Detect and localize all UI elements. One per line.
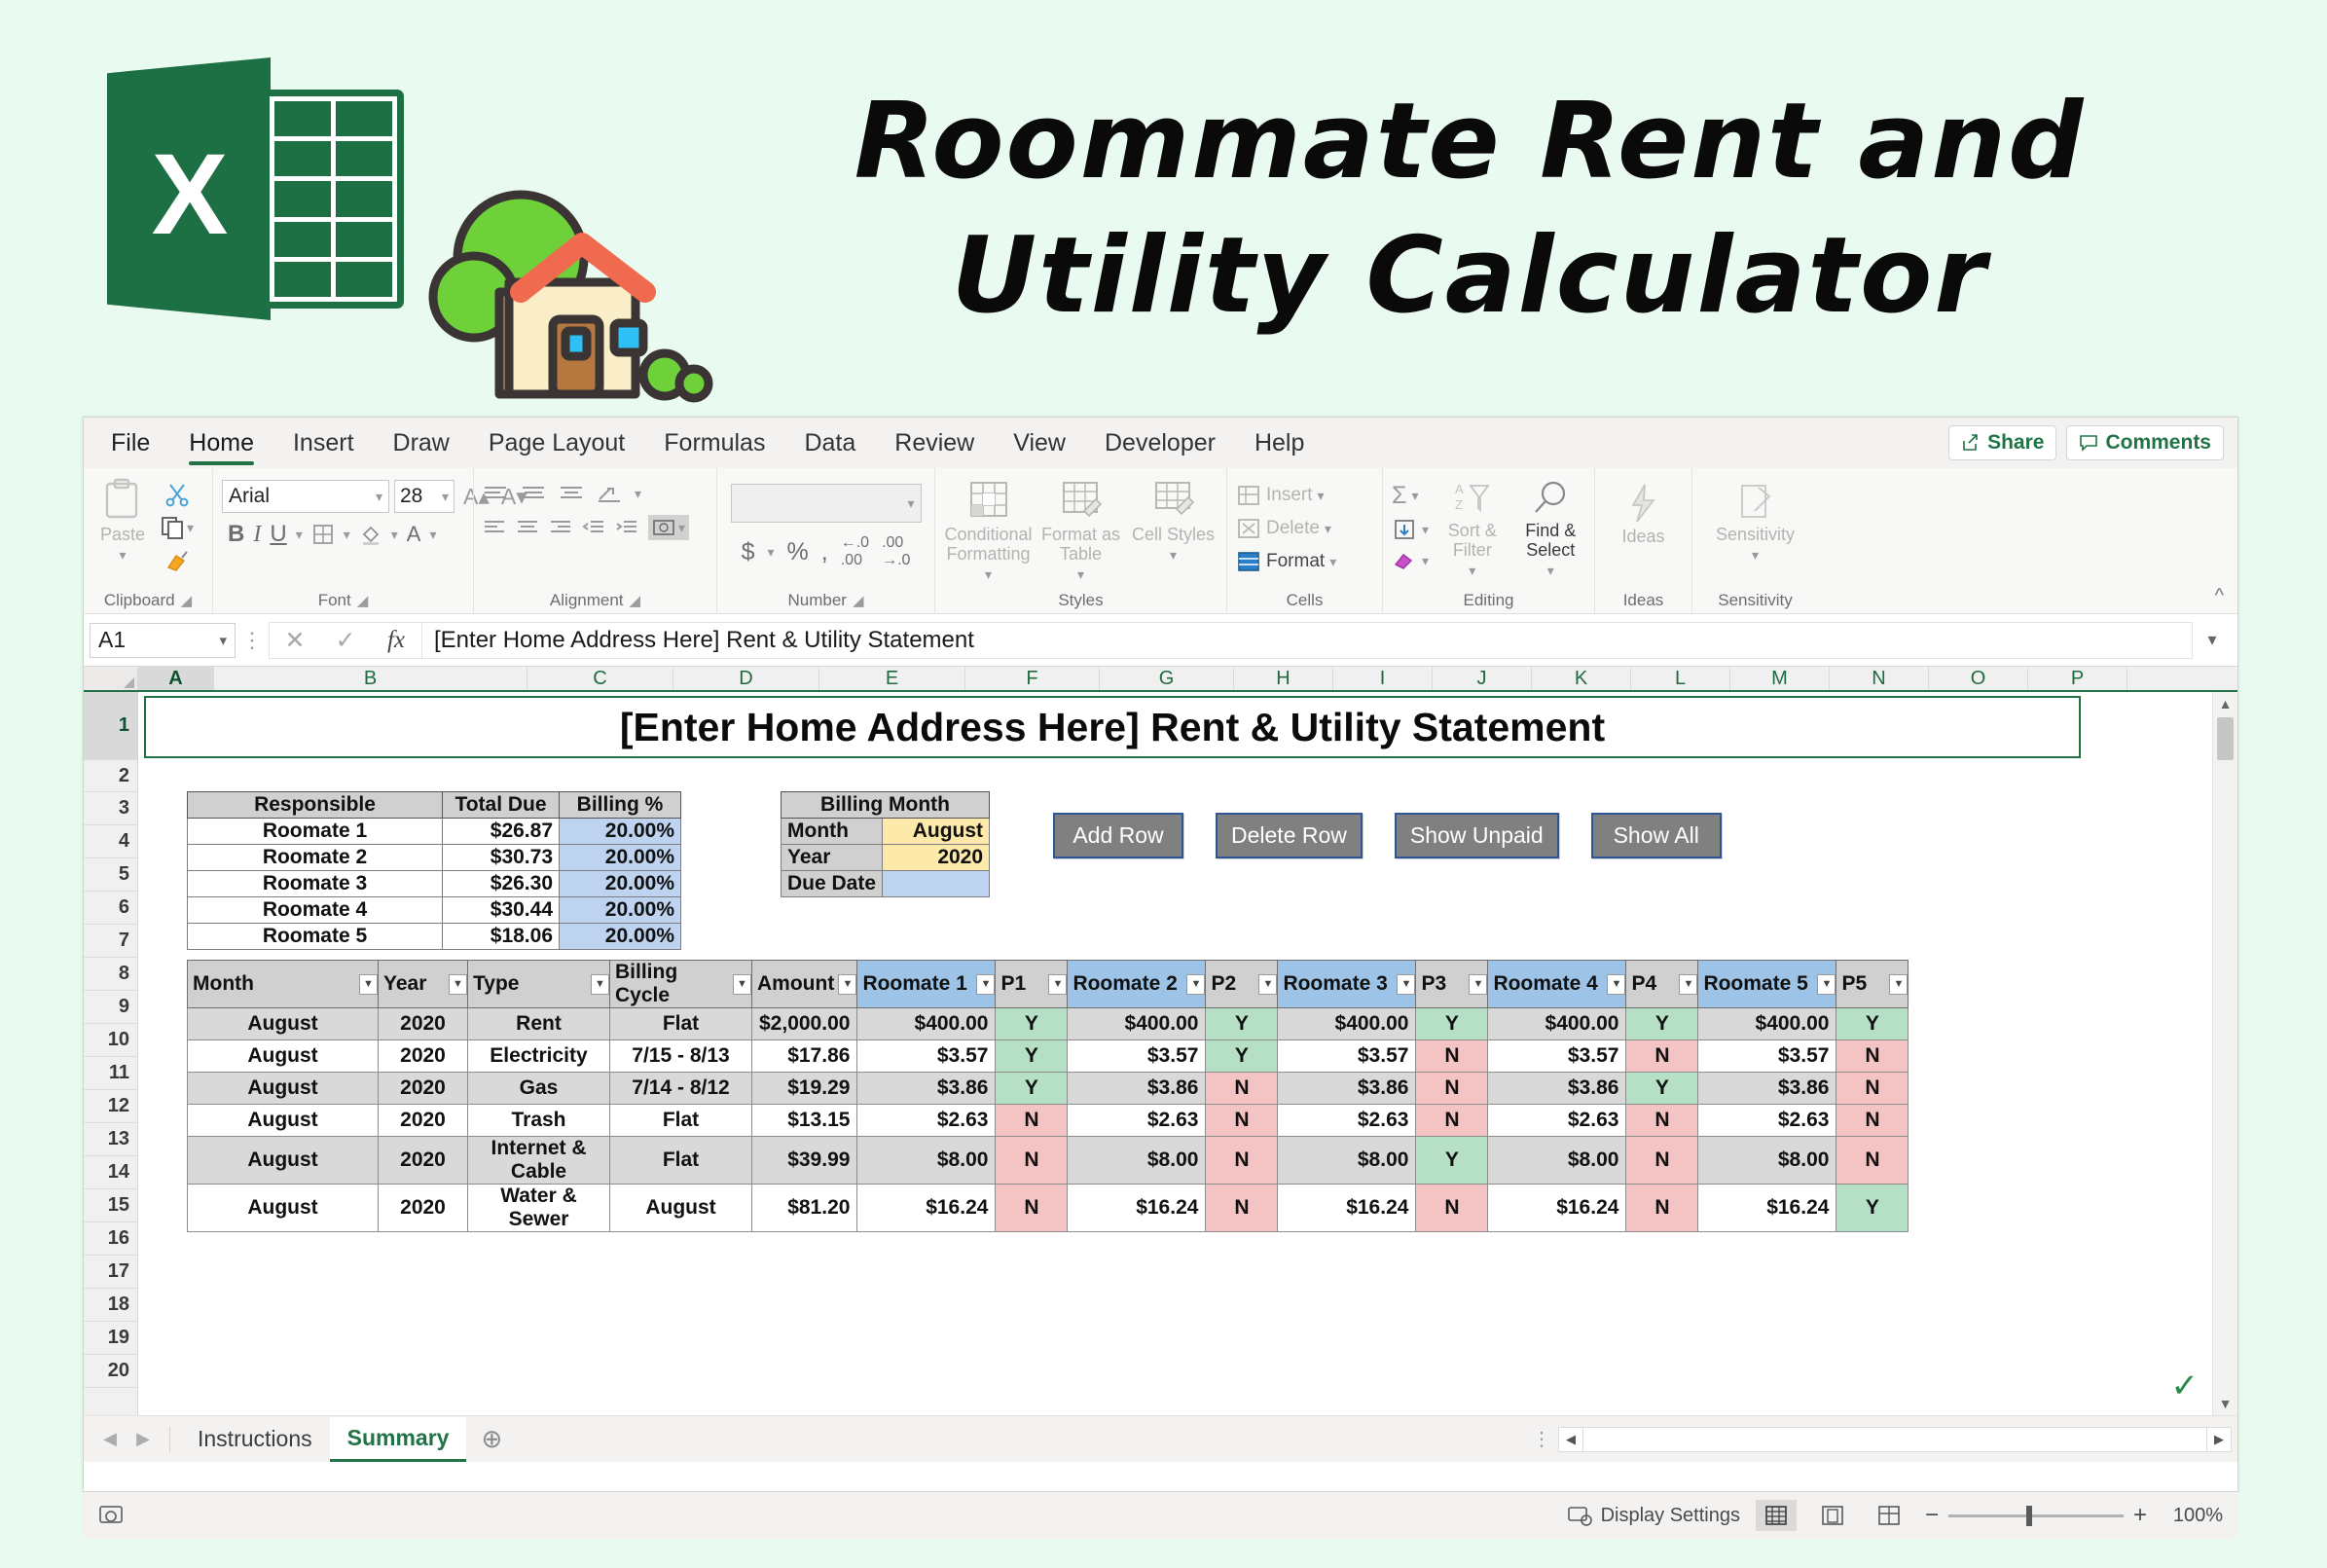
cell-year[interactable]: 2020	[379, 1008, 468, 1040]
cell-amount[interactable]: $81.20	[752, 1185, 857, 1232]
font-dialog-launcher-icon[interactable]: ◢	[357, 592, 369, 609]
table-row[interactable]: August 2020 Water & Sewer August $81.20 …	[188, 1185, 1909, 1232]
ledger-col-roomate-2[interactable]: Roomate 2▼	[1068, 961, 1206, 1008]
sort-and-filter-button[interactable]: A Z Sort & Filter ▾	[1438, 480, 1507, 578]
cell-roomate-1[interactable]: $2.63	[857, 1105, 996, 1137]
clear-chevron-down-icon[interactable]: ▾	[1422, 553, 1429, 569]
cell-p3[interactable]: N	[1416, 1185, 1488, 1232]
cell-p1[interactable]: Y	[996, 1073, 1068, 1105]
number-format-select[interactable]: ▾	[731, 484, 922, 523]
conditional-formatting-chevron-down-icon[interactable]: ▾	[985, 567, 992, 582]
decrease-indent-icon[interactable]	[582, 519, 605, 536]
column-header-I[interactable]: I	[1333, 667, 1433, 690]
cell-p2[interactable]: Y	[1206, 1008, 1278, 1040]
column-header-C[interactable]: C	[527, 667, 673, 690]
cell-roomate-2[interactable]: $3.86	[1068, 1073, 1206, 1105]
due-date-value[interactable]	[883, 871, 990, 897]
cell-p3[interactable]: N	[1416, 1105, 1488, 1137]
select-all-corner-button[interactable]	[84, 667, 138, 690]
format-chevron-down-icon[interactable]: ▾	[1329, 554, 1336, 570]
responsible-pct[interactable]: 20.00%	[560, 871, 681, 897]
responsible-name[interactable]: Roomate 3	[188, 871, 443, 897]
responsible-name[interactable]: Roomate 5	[188, 924, 443, 950]
responsible-due[interactable]: $30.44	[443, 897, 560, 924]
filter-p4-icon[interactable]: ▼	[1679, 974, 1697, 995]
scroll-down-arrow-icon[interactable]: ▼	[2213, 1392, 2237, 1415]
cell-type[interactable]: Gas	[468, 1073, 610, 1105]
vertical-scroll-thumb[interactable]	[2217, 717, 2234, 760]
filter-amount-icon[interactable]: ▼	[838, 974, 856, 995]
ribbon-tab-file[interactable]: File	[91, 418, 169, 468]
insert-cells-button[interactable]: Insert ▾	[1236, 482, 1325, 509]
comments-button[interactable]: Comments	[2066, 425, 2224, 460]
ribbon-tab-draw[interactable]: Draw	[374, 418, 469, 468]
row-header-9[interactable]: 9	[84, 991, 137, 1024]
filter-roomate-3-icon[interactable]: ▼	[1397, 974, 1415, 995]
filter-roomate-1-icon[interactable]: ▼	[976, 974, 995, 995]
column-header-O[interactable]: O	[1929, 667, 2028, 690]
cell-p3[interactable]: Y	[1416, 1137, 1488, 1185]
page-layout-view-button[interactable]	[1812, 1500, 1853, 1531]
cell-roomate-3[interactable]: $400.00	[1278, 1008, 1416, 1040]
table-row[interactable]: Due Date	[782, 871, 990, 897]
ribbon-tab-insert[interactable]: Insert	[273, 418, 374, 468]
table-row[interactable]: August 2020 Trash Flat $13.15 $2.63 N $2…	[188, 1105, 1909, 1137]
merge-and-center-button[interactable]: ▾	[648, 515, 689, 540]
font-size-chevron-down-icon[interactable]: ▾	[442, 489, 449, 505]
format-as-table-chevron-down-icon[interactable]: ▾	[1077, 567, 1084, 582]
ribbon-tab-view[interactable]: View	[994, 418, 1085, 468]
cell-roomate-5[interactable]: $2.63	[1698, 1105, 1836, 1137]
find-select-chevron-down-icon[interactable]: ▾	[1547, 564, 1554, 578]
fill-color-chevron-down-icon[interactable]: ▾	[391, 527, 398, 543]
cell-p5[interactable]: Y	[1836, 1008, 1909, 1040]
scroll-up-arrow-icon[interactable]: ▲	[2213, 692, 2237, 715]
cell-cycle[interactable]: 7/14 - 8/12	[610, 1073, 752, 1105]
zoom-slider[interactable]: − +	[1925, 1502, 2147, 1529]
cell-p5[interactable]: N	[1836, 1105, 1909, 1137]
format-cells-button[interactable]: Format ▾	[1236, 548, 1336, 575]
filter-roomate-5-icon[interactable]: ▼	[1817, 974, 1836, 995]
row-header-7[interactable]: 7	[84, 925, 137, 958]
align-center-icon[interactable]	[516, 519, 539, 536]
conditional-formatting-button[interactable]: Conditional Formatting ▾	[946, 480, 1032, 582]
formula-bar-handle[interactable]: ⋮	[236, 628, 269, 653]
cell-p4[interactable]: N	[1626, 1040, 1698, 1073]
scroll-handle-dots-icon[interactable]: ⋮	[1525, 1427, 1558, 1451]
cell-roomate-4[interactable]: $3.86	[1488, 1073, 1626, 1105]
normal-view-button[interactable]	[1756, 1500, 1797, 1531]
font-color-icon[interactable]: A	[407, 522, 421, 547]
table-row[interactable]: Year 2020	[782, 845, 990, 871]
cell-amount[interactable]: $19.29	[752, 1073, 857, 1105]
ribbon-tab-page-layout[interactable]: Page Layout	[469, 418, 644, 468]
zoom-thumb[interactable]	[2026, 1506, 2032, 1526]
cell-month[interactable]: August	[188, 1105, 379, 1137]
display-settings-button[interactable]: Display Settings	[1568, 1505, 1740, 1527]
filter-cycle-icon[interactable]: ▼	[733, 974, 751, 995]
cell-roomate-3[interactable]: $3.86	[1278, 1073, 1416, 1105]
cell-p4[interactable]: N	[1626, 1137, 1698, 1185]
cell-amount[interactable]: $39.99	[752, 1137, 857, 1185]
column-header-F[interactable]: F	[965, 667, 1100, 690]
format-as-table-button[interactable]: Format as Table ▾	[1038, 480, 1124, 582]
cell-amount[interactable]: $13.15	[752, 1105, 857, 1137]
cell-p5[interactable]: Y	[1836, 1185, 1909, 1232]
filter-roomate-2-icon[interactable]: ▼	[1186, 974, 1205, 995]
cell-roomate-2[interactable]: $3.57	[1068, 1040, 1206, 1073]
sort-filter-chevron-down-icon[interactable]: ▾	[1469, 564, 1475, 578]
cut-button[interactable]	[157, 480, 197, 509]
column-header-D[interactable]: D	[673, 667, 819, 690]
cell-type[interactable]: Internet & Cable	[468, 1137, 610, 1185]
ledger-col-year[interactable]: Year▼	[379, 961, 468, 1008]
responsible-name[interactable]: Roomate 4	[188, 897, 443, 924]
row-header-5[interactable]: 5	[84, 858, 137, 892]
number-format-chevron-down-icon[interactable]: ▾	[907, 495, 914, 512]
cell-roomate-1[interactable]: $3.57	[857, 1040, 996, 1073]
cell-p3[interactable]: N	[1416, 1040, 1488, 1073]
cell-p2[interactable]: N	[1206, 1137, 1278, 1185]
row-header-13[interactable]: 13	[84, 1123, 137, 1156]
scroll-left-arrow-icon[interactable]: ◀	[1558, 1427, 1583, 1452]
row-header-10[interactable]: 10	[84, 1024, 137, 1057]
column-header-J[interactable]: J	[1433, 667, 1532, 690]
cell-type[interactable]: Rent	[468, 1008, 610, 1040]
zoom-track[interactable]	[1948, 1514, 2124, 1517]
table-row[interactable]: Roomate 5 $18.06 20.00%	[188, 924, 681, 950]
increase-decimal-button[interactable]: ←.0.00	[841, 534, 869, 569]
zoom-out-button[interactable]: −	[1925, 1502, 1939, 1529]
ledger-col-roomate-4[interactable]: Roomate 4▼	[1488, 961, 1626, 1008]
paste-chevron-down-icon[interactable]: ▾	[119, 548, 126, 563]
column-header-G[interactable]: G	[1100, 667, 1234, 690]
cell-roomate-1[interactable]: $400.00	[857, 1008, 996, 1040]
responsible-pct[interactable]: 20.00%	[560, 897, 681, 924]
row-header-19[interactable]: 19	[84, 1322, 137, 1355]
increase-indent-icon[interactable]	[615, 519, 638, 536]
cell-year[interactable]: 2020	[379, 1137, 468, 1185]
cell-roomate-2[interactable]: $2.63	[1068, 1105, 1206, 1137]
cell-roomate-1[interactable]: $8.00	[857, 1137, 996, 1185]
cell-p2[interactable]: N	[1206, 1073, 1278, 1105]
filter-year-icon[interactable]: ▼	[449, 974, 467, 995]
sheet-canvas[interactable]: [Enter Home Address Here] Rent & Utility…	[138, 692, 2237, 1415]
responsible-due[interactable]: $30.73	[443, 845, 560, 871]
share-button[interactable]: Share	[1948, 425, 2056, 460]
ledger-col-p1[interactable]: P1▼	[996, 961, 1068, 1008]
fill-chevron-down-icon[interactable]: ▾	[1422, 522, 1429, 538]
table-row[interactable]: Month August	[782, 819, 990, 845]
clipboard-dialog-launcher-icon[interactable]: ◢	[181, 592, 193, 609]
ledger-col-cycle[interactable]: Billing Cycle▼	[610, 961, 752, 1008]
decrease-decimal-button[interactable]: .00→.0	[882, 534, 910, 569]
cell-roomate-4[interactable]: $3.57	[1488, 1040, 1626, 1073]
align-top-icon[interactable]	[483, 485, 508, 502]
delete-row-button[interactable]: Delete Row	[1216, 813, 1363, 858]
cell-year[interactable]: 2020	[379, 1105, 468, 1137]
filter-month-icon[interactable]: ▼	[359, 974, 378, 995]
cell-amount[interactable]: $17.86	[752, 1040, 857, 1073]
cell-roomate-4[interactable]: $16.24	[1488, 1185, 1626, 1232]
cell-p2[interactable]: Y	[1206, 1040, 1278, 1073]
table-row[interactable]: August 2020 Gas 7/14 - 8/12 $19.29 $3.86…	[188, 1073, 1909, 1105]
align-right-icon[interactable]	[549, 519, 572, 536]
cell-roomate-3[interactable]: $16.24	[1278, 1185, 1416, 1232]
align-left-icon[interactable]	[483, 519, 506, 536]
cell-roomate-5[interactable]: $8.00	[1698, 1137, 1836, 1185]
align-bottom-icon[interactable]	[559, 485, 584, 502]
cell-p4[interactable]: Y	[1626, 1073, 1698, 1105]
cell-month[interactable]: August	[188, 1073, 379, 1105]
filter-p3-icon[interactable]: ▼	[1469, 974, 1487, 995]
row-header-3[interactable]: 3	[84, 792, 137, 825]
cell-month[interactable]: August	[188, 1008, 379, 1040]
autosum-chevron-down-icon[interactable]: ▾	[1411, 488, 1418, 504]
ledger-col-roomate-1[interactable]: Roomate 1▼	[857, 961, 996, 1008]
row-header-4[interactable]: 4	[84, 825, 137, 858]
cell-styles-button[interactable]: Cell Styles ▾	[1131, 480, 1217, 563]
responsible-pct[interactable]: 20.00%	[560, 845, 681, 871]
filter-p1-icon[interactable]: ▼	[1048, 974, 1067, 995]
ribbon-tab-data[interactable]: Data	[784, 418, 875, 468]
column-header-L[interactable]: L	[1631, 667, 1730, 690]
cell-month[interactable]: August	[188, 1040, 379, 1073]
cell-roomate-5[interactable]: $400.00	[1698, 1008, 1836, 1040]
find-and-select-button[interactable]: Find & Select ▾	[1516, 480, 1585, 578]
row-header-14[interactable]: 14	[84, 1156, 137, 1189]
cell-roomate-2[interactable]: $400.00	[1068, 1008, 1206, 1040]
cell-cycle[interactable]: Flat	[610, 1105, 752, 1137]
column-header-K[interactable]: K	[1532, 667, 1631, 690]
cell-roomate-1[interactable]: $16.24	[857, 1185, 996, 1232]
cell-cycle[interactable]: Flat	[610, 1137, 752, 1185]
show-all-button[interactable]: Show All	[1591, 813, 1722, 858]
orientation-chevron-down-icon[interactable]: ▾	[635, 486, 641, 502]
table-row[interactable]: Roomate 1 $26.87 20.00%	[188, 819, 681, 845]
column-header-A[interactable]: A	[138, 667, 214, 690]
italic-button[interactable]: I	[253, 522, 261, 548]
ribbon-tab-developer[interactable]: Developer	[1085, 418, 1235, 468]
font-name-select[interactable]: Arial ▾	[222, 480, 389, 513]
ledger-col-amount[interactable]: Amount▼	[752, 961, 857, 1008]
table-row[interactable]: Roomate 4 $30.44 20.00%	[188, 897, 681, 924]
scroll-right-arrow-icon[interactable]: ▶	[2206, 1427, 2232, 1452]
cell-type[interactable]: Water & Sewer	[468, 1185, 610, 1232]
row-header-11[interactable]: 11	[84, 1057, 137, 1090]
row-header-18[interactable]: 18	[84, 1289, 137, 1322]
column-header-M[interactable]: M	[1730, 667, 1830, 690]
percent-format-button[interactable]: %	[787, 538, 809, 566]
row-header-2[interactable]: 2	[84, 760, 137, 792]
cell-year[interactable]: 2020	[379, 1073, 468, 1105]
cell-p1[interactable]: N	[996, 1105, 1068, 1137]
merge-chevron-down-icon[interactable]: ▾	[678, 520, 685, 536]
page-break-preview-button[interactable]	[1869, 1500, 1909, 1531]
ribbon-tab-home[interactable]: Home	[169, 418, 273, 468]
column-header-H[interactable]: H	[1234, 667, 1333, 690]
ledger-col-p4[interactable]: P4▼	[1626, 961, 1698, 1008]
cancel-formula-button[interactable]: ✕	[270, 626, 320, 655]
fill-button[interactable]: ▾	[1392, 516, 1429, 543]
cell-p1[interactable]: Y	[996, 1040, 1068, 1073]
filter-roomate-4-icon[interactable]: ▼	[1607, 974, 1625, 995]
ledger-col-roomate-5[interactable]: Roomate 5▼	[1698, 961, 1836, 1008]
cell-p1[interactable]: Y	[996, 1008, 1068, 1040]
row-header-15[interactable]: 15	[84, 1189, 137, 1222]
alignment-dialog-launcher-icon[interactable]: ◢	[630, 592, 641, 609]
responsible-pct[interactable]: 20.00%	[560, 924, 681, 950]
row-header-8[interactable]: 8	[84, 958, 137, 991]
row-header-12[interactable]: 12	[84, 1090, 137, 1123]
ledger-col-p3[interactable]: P3▼	[1416, 961, 1488, 1008]
borders-chevron-down-icon[interactable]: ▾	[344, 527, 350, 543]
table-row[interactable]: August 2020 Electricity 7/15 - 8/13 $17.…	[188, 1040, 1909, 1073]
sensitivity-button[interactable]: Sensitivity ▾	[1713, 482, 1799, 563]
ribbon-tab-review[interactable]: Review	[875, 418, 994, 468]
clear-button[interactable]: ▾	[1392, 547, 1429, 574]
cell-styles-chevron-down-icon[interactable]: ▾	[1170, 548, 1177, 563]
zoom-in-button[interactable]: +	[2133, 1502, 2147, 1529]
previous-sheet-arrow-icon[interactable]: ◀	[93, 1429, 127, 1449]
row-header-17[interactable]: 17	[84, 1256, 137, 1289]
cell-p4[interactable]: N	[1626, 1185, 1698, 1232]
ledger-col-month[interactable]: Month▼	[188, 961, 379, 1008]
responsible-due[interactable]: $26.30	[443, 871, 560, 897]
ledger-col-roomate-3[interactable]: Roomate 3▼	[1278, 961, 1416, 1008]
horizontal-scroll-track[interactable]	[1583, 1427, 2206, 1452]
cell-p3[interactable]: Y	[1416, 1008, 1488, 1040]
name-box[interactable]: A1 ▾	[90, 623, 236, 658]
cell-roomate-1[interactable]: $3.86	[857, 1073, 996, 1105]
cell-cycle[interactable]: August	[610, 1185, 752, 1232]
responsible-pct[interactable]: 20.00%	[560, 819, 681, 845]
cell-month[interactable]: August	[188, 1185, 379, 1232]
underline-button[interactable]: U	[270, 521, 286, 548]
cell-type[interactable]: Trash	[468, 1105, 610, 1137]
currency-format-button[interactable]: $	[742, 538, 755, 566]
add-sheet-button[interactable]: ⊕	[466, 1424, 517, 1454]
ledger-col-p2[interactable]: P2▼	[1206, 961, 1278, 1008]
cell-p5[interactable]: N	[1836, 1040, 1909, 1073]
row-header-1[interactable]: 1	[84, 692, 137, 760]
filter-type-icon[interactable]: ▼	[591, 974, 609, 995]
table-row[interactable]: August 2020 Internet & Cable Flat $39.99…	[188, 1137, 1909, 1185]
copy-button[interactable]: ▾	[157, 513, 197, 542]
sensitivity-chevron-down-icon[interactable]: ▾	[1752, 548, 1759, 563]
currency-chevron-down-icon[interactable]: ▾	[768, 544, 775, 561]
billing-month-value[interactable]: August	[883, 819, 990, 845]
orientation-icon[interactable]	[597, 484, 622, 503]
table-row[interactable]: Roomate 2 $30.73 20.00%	[188, 845, 681, 871]
add-row-button[interactable]: Add Row	[1053, 813, 1183, 858]
format-painter-button[interactable]	[157, 546, 197, 575]
cell-amount[interactable]: $2,000.00	[752, 1008, 857, 1040]
copy-chevron-down-icon[interactable]: ▾	[187, 520, 194, 536]
delete-cells-button[interactable]: Delete ▾	[1236, 515, 1331, 542]
borders-icon[interactable]	[311, 523, 335, 546]
column-header-E[interactable]: E	[819, 667, 965, 690]
font-size-select[interactable]: 28 ▾	[394, 480, 454, 513]
ribbon-tab-help[interactable]: Help	[1235, 418, 1324, 468]
delete-chevron-down-icon[interactable]: ▾	[1325, 521, 1331, 537]
cell-p3[interactable]: N	[1416, 1073, 1488, 1105]
responsible-name[interactable]: Roomate 2	[188, 845, 443, 871]
responsible-due[interactable]: $18.06	[443, 924, 560, 950]
cell-roomate-4[interactable]: $2.63	[1488, 1105, 1626, 1137]
row-header-16[interactable]: 16	[84, 1222, 137, 1256]
fill-color-icon[interactable]	[359, 523, 382, 546]
responsible-name[interactable]: Roomate 1	[188, 819, 443, 845]
cell-roomate-3[interactable]: $8.00	[1278, 1137, 1416, 1185]
cell-p2[interactable]: N	[1206, 1105, 1278, 1137]
cell-roomate-3[interactable]: $3.57	[1278, 1040, 1416, 1073]
ledger-col-p5[interactable]: P5▼	[1836, 961, 1909, 1008]
expand-formula-bar-button[interactable]: ▾	[2193, 630, 2232, 650]
cell-roomate-4[interactable]: $400.00	[1488, 1008, 1626, 1040]
cell-p5[interactable]: N	[1836, 1073, 1909, 1105]
cell-roomate-5[interactable]: $3.86	[1698, 1073, 1836, 1105]
collapse-ribbon-button[interactable]: ^	[2215, 585, 2224, 607]
table-row[interactable]: Roomate 3 $26.30 20.00%	[188, 871, 681, 897]
column-header-B[interactable]: B	[214, 667, 527, 690]
vertical-scrollbar[interactable]: ▲ ▼	[2212, 692, 2237, 1415]
cell-p4[interactable]: Y	[1626, 1008, 1698, 1040]
sheet-tab-summary[interactable]: Summary	[330, 1417, 467, 1462]
cell-cycle[interactable]: Flat	[610, 1008, 752, 1040]
cell-p2[interactable]: N	[1206, 1185, 1278, 1232]
accessibility-recording-icon[interactable]	[98, 1503, 127, 1528]
row-header-20[interactable]: 20	[84, 1355, 137, 1388]
cell-cycle[interactable]: 7/15 - 8/13	[610, 1040, 752, 1073]
cell-p5[interactable]: N	[1836, 1137, 1909, 1185]
cell-roomate-2[interactable]: $8.00	[1068, 1137, 1206, 1185]
insert-function-button[interactable]: fx	[371, 627, 421, 654]
cell-roomate-5[interactable]: $3.57	[1698, 1040, 1836, 1073]
paste-button[interactable]: Paste ▾	[92, 478, 153, 563]
formula-input[interactable]: [Enter Home Address Here] Rent & Utility…	[421, 622, 2193, 659]
autosum-button[interactable]: Σ▾	[1392, 480, 1429, 512]
cell-month[interactable]: August	[188, 1137, 379, 1185]
responsible-due[interactable]: $26.87	[443, 819, 560, 845]
enter-formula-button[interactable]: ✓	[320, 626, 371, 655]
sheet-tab-instructions[interactable]: Instructions	[180, 1417, 330, 1462]
number-dialog-launcher-icon[interactable]: ◢	[853, 592, 864, 609]
cell-type[interactable]: Electricity	[468, 1040, 610, 1073]
column-header-P[interactable]: P	[2028, 667, 2127, 690]
zoom-percentage[interactable]: 100%	[2163, 1505, 2223, 1527]
cell-year[interactable]: 2020	[379, 1040, 468, 1073]
cell-p1[interactable]: N	[996, 1137, 1068, 1185]
row-header-6[interactable]: 6	[84, 892, 137, 925]
billing-year-value[interactable]: 2020	[883, 845, 990, 871]
font-color-chevron-down-icon[interactable]: ▾	[429, 527, 436, 543]
underline-chevron-down-icon[interactable]: ▾	[296, 527, 303, 543]
bold-button[interactable]: B	[228, 521, 244, 548]
insert-chevron-down-icon[interactable]: ▾	[1318, 488, 1325, 504]
name-box-chevron-down-icon[interactable]: ▾	[219, 632, 227, 649]
cell-roomate-2[interactable]: $16.24	[1068, 1185, 1206, 1232]
font-name-chevron-down-icon[interactable]: ▾	[376, 489, 382, 505]
ribbon-tab-formulas[interactable]: Formulas	[644, 418, 784, 468]
ledger-col-type[interactable]: Type▼	[468, 961, 610, 1008]
cell-p1[interactable]: N	[996, 1185, 1068, 1232]
table-row[interactable]: August 2020 Rent Flat $2,000.00 $400.00 …	[188, 1008, 1909, 1040]
statement-title-cell[interactable]: [Enter Home Address Here] Rent & Utility…	[144, 696, 2081, 758]
cell-roomate-4[interactable]: $8.00	[1488, 1137, 1626, 1185]
cell-roomate-5[interactable]: $16.24	[1698, 1185, 1836, 1232]
cell-year[interactable]: 2020	[379, 1185, 468, 1232]
